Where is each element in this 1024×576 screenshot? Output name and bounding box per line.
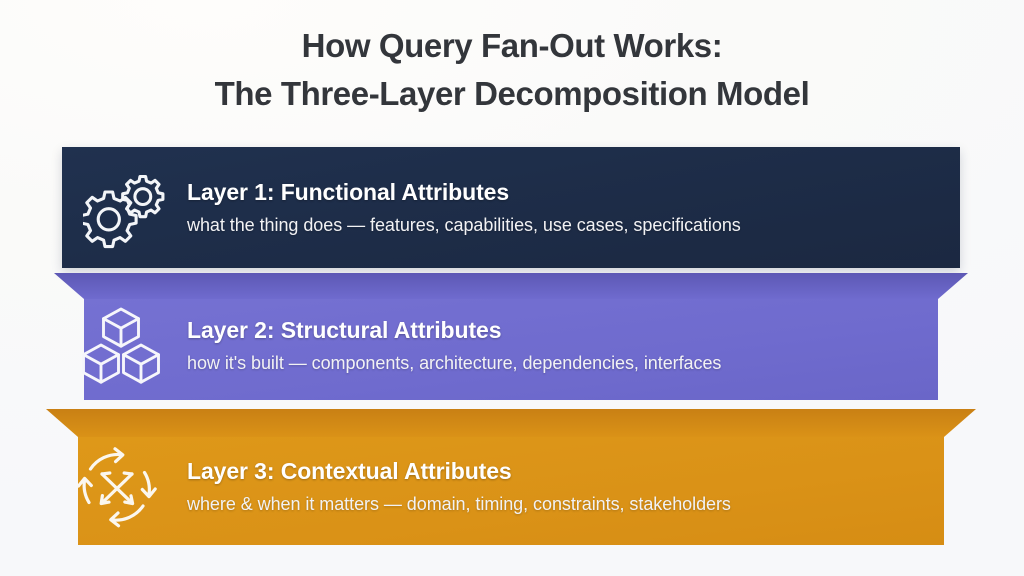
cubes-icon: [54, 273, 187, 400]
layer-card-structural[interactable]: Layer 2: Structural Attributes how it's …: [54, 273, 968, 400]
shuffle-arrows-icon: [46, 409, 187, 545]
layer-1-title: Layer 1: Functional Attributes: [187, 178, 930, 207]
title-line-1: How Query Fan-Out Works:: [0, 22, 1024, 70]
layer-2-title: Layer 2: Structural Attributes: [187, 316, 928, 345]
page-title: How Query Fan-Out Works: The Three-Layer…: [0, 22, 1024, 118]
layer-3-subtitle: where & when it matters — domain, timing…: [187, 493, 930, 516]
diagram-canvas: How Query Fan-Out Works: The Three-Layer…: [0, 0, 1024, 576]
layer-1-subtitle: what the thing does — features, capabili…: [187, 214, 930, 237]
gears-icon: [62, 147, 187, 268]
layer-3-title: Layer 3: Contextual Attributes: [187, 457, 930, 486]
layer-card-functional[interactable]: Layer 1: Functional Attributes what the …: [62, 147, 960, 268]
layer-card-contextual[interactable]: Layer 3: Contextual Attributes where & w…: [46, 409, 976, 545]
title-line-2: The Three-Layer Decomposition Model: [0, 70, 1024, 118]
layer-2-subtitle: how it's built — components, architectur…: [187, 352, 928, 375]
